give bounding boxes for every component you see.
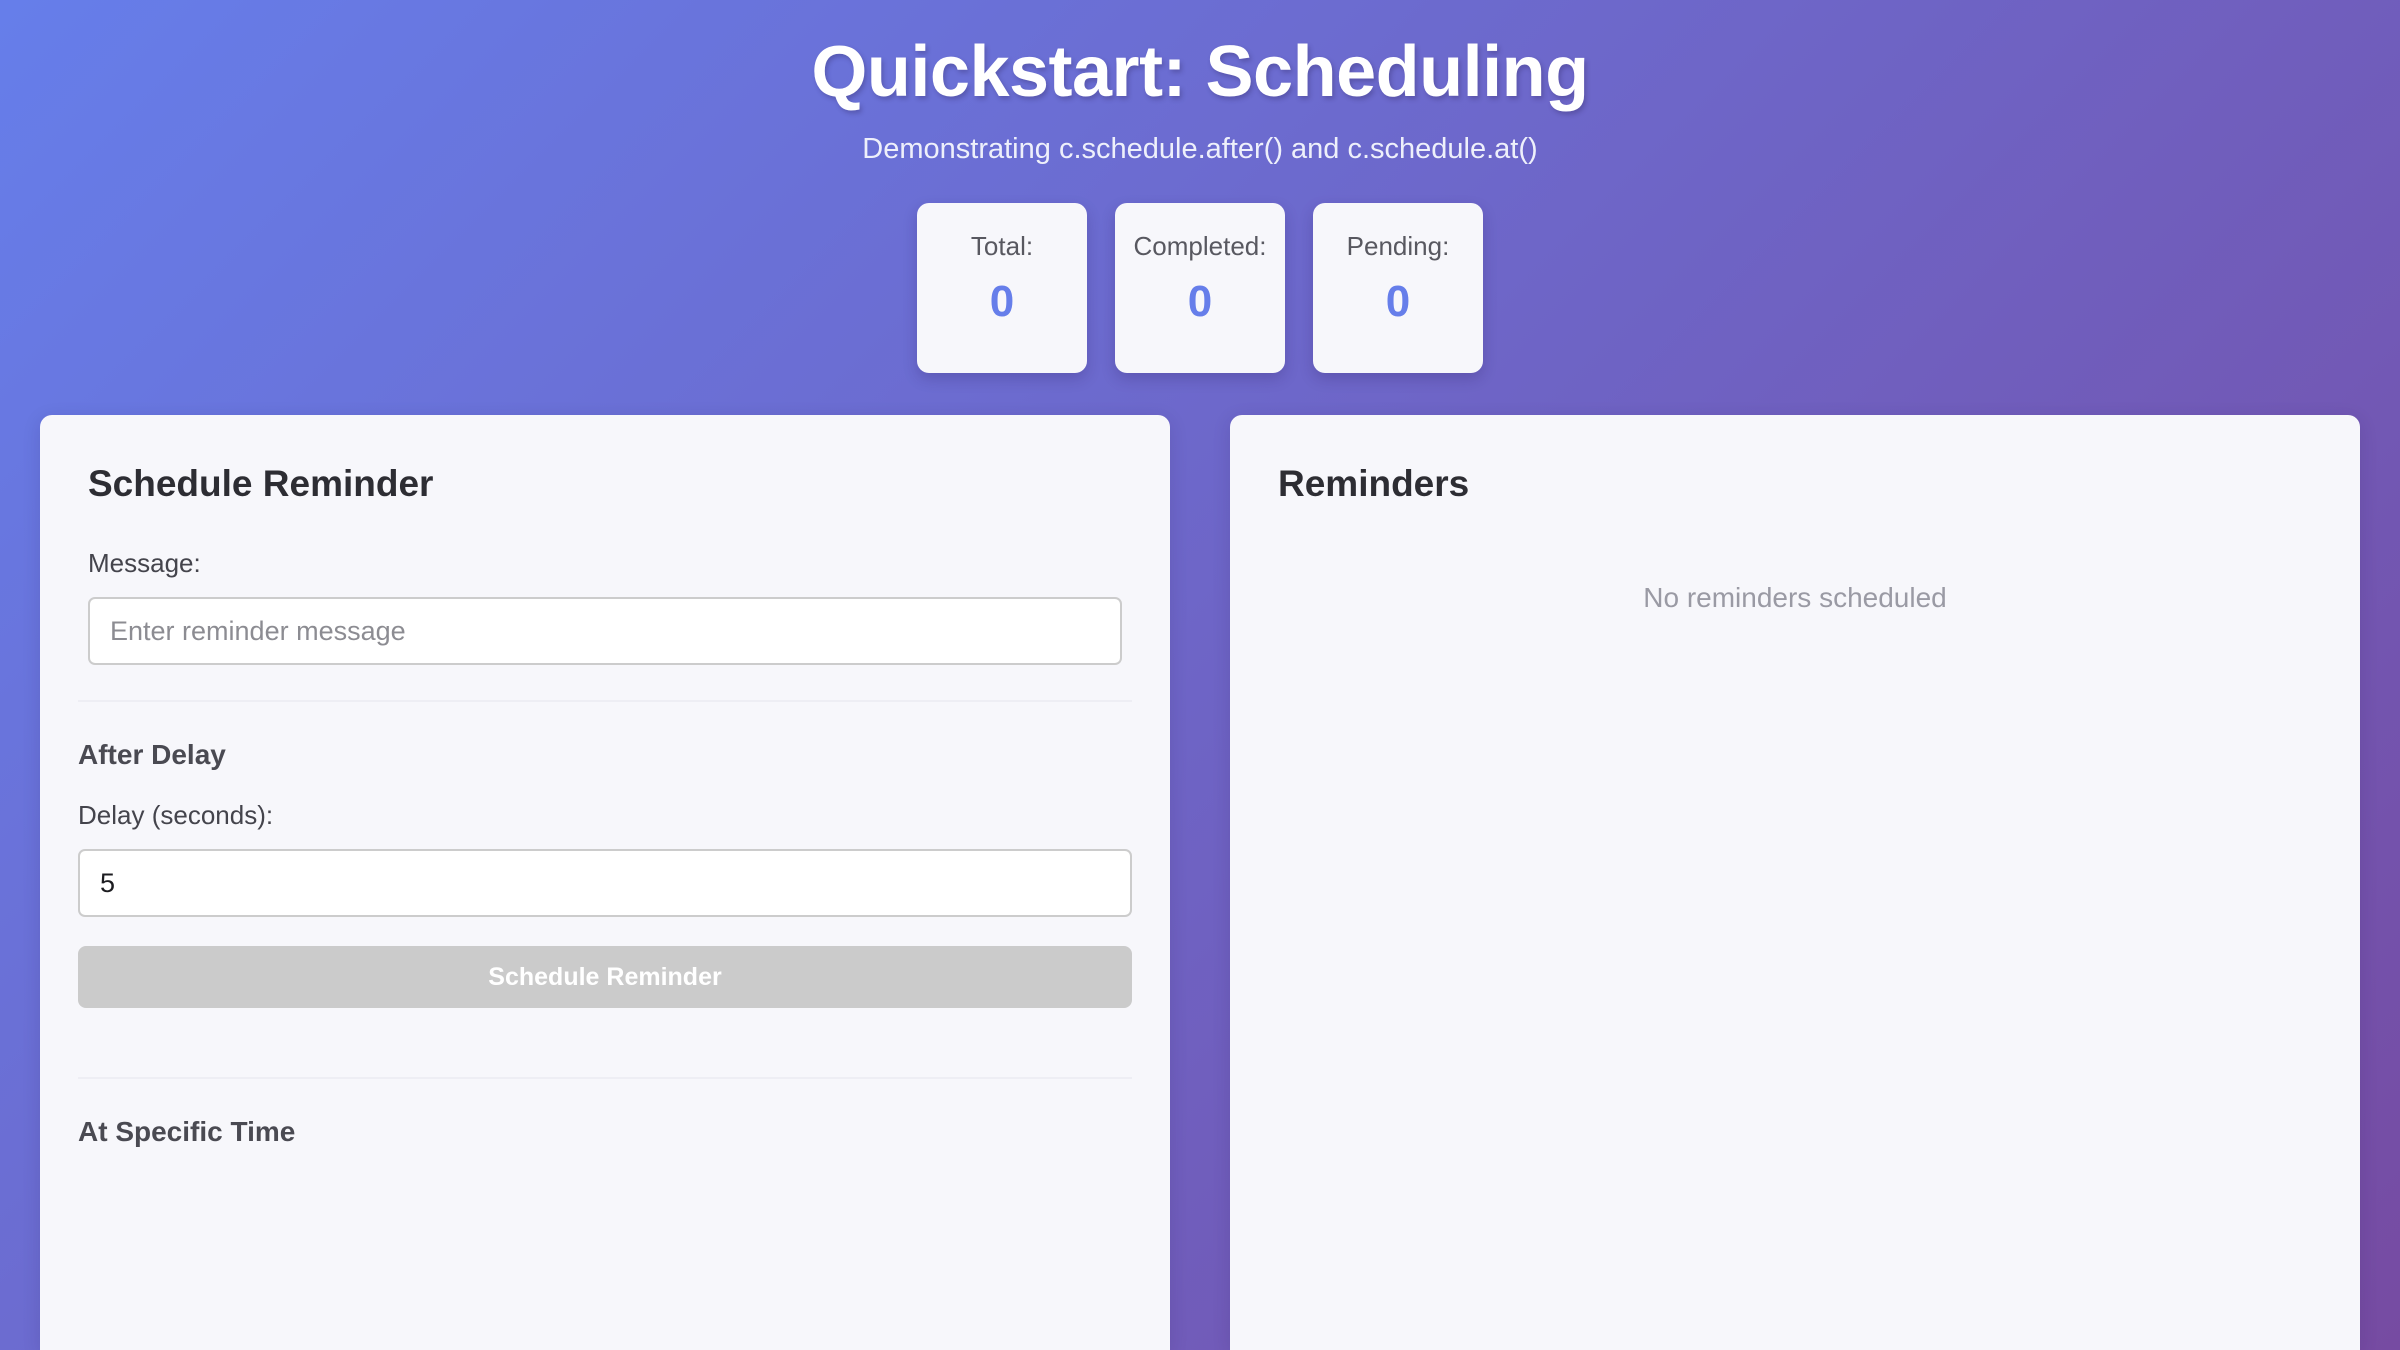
stat-label-pending: Pending: (1347, 231, 1450, 262)
stat-card-pending: Pending: 0 (1313, 203, 1483, 373)
after-delay-title: After Delay (78, 738, 1132, 772)
stat-card-completed: Completed: 0 (1115, 203, 1285, 373)
stat-label-completed: Completed: (1134, 231, 1267, 262)
schedule-reminder-panel: Schedule Reminder Message: After Delay D… (40, 415, 1170, 1350)
reminders-empty-state: No reminders scheduled (1278, 581, 2312, 615)
page-subtitle: Demonstrating c.schedule.after() and c.s… (0, 132, 2400, 167)
schedule-reminder-title: Schedule Reminder (88, 463, 1122, 506)
page-title: Quickstart: Scheduling (0, 34, 2400, 112)
reminders-panel: Reminders No reminders scheduled (1230, 415, 2360, 1350)
stat-value-total: 0 (990, 280, 1014, 324)
panels-container: Schedule Reminder Message: After Delay D… (0, 415, 2400, 1350)
delay-seconds-input[interactable] (78, 849, 1132, 917)
schedule-reminder-panel-body: Schedule Reminder Message: (40, 415, 1170, 666)
delay-seconds-label: Delay (seconds): (78, 800, 1132, 831)
message-input[interactable] (88, 597, 1122, 665)
reminders-panel-body: Reminders No reminders scheduled (1230, 415, 2360, 615)
stat-value-pending: 0 (1386, 280, 1410, 324)
at-specific-time-section: At Specific Time (78, 1077, 1132, 1183)
after-delay-section: After Delay Delay (seconds): Schedule Re… (78, 700, 1132, 1042)
stat-label-total: Total: (971, 231, 1033, 262)
stat-value-completed: 0 (1188, 280, 1212, 324)
stats-row: Total: 0 Completed: 0 Pending: 0 (0, 203, 2400, 373)
page-header: Quickstart: Scheduling Demonstrating c.s… (0, 0, 2400, 373)
at-specific-time-title: At Specific Time (78, 1115, 1132, 1149)
stat-card-total: Total: 0 (917, 203, 1087, 373)
schedule-after-delay-button[interactable]: Schedule Reminder (78, 946, 1132, 1008)
app-root: Quickstart: Scheduling Demonstrating c.s… (0, 0, 2400, 1350)
reminders-title: Reminders (1278, 463, 2312, 506)
message-label: Message: (88, 548, 1122, 579)
